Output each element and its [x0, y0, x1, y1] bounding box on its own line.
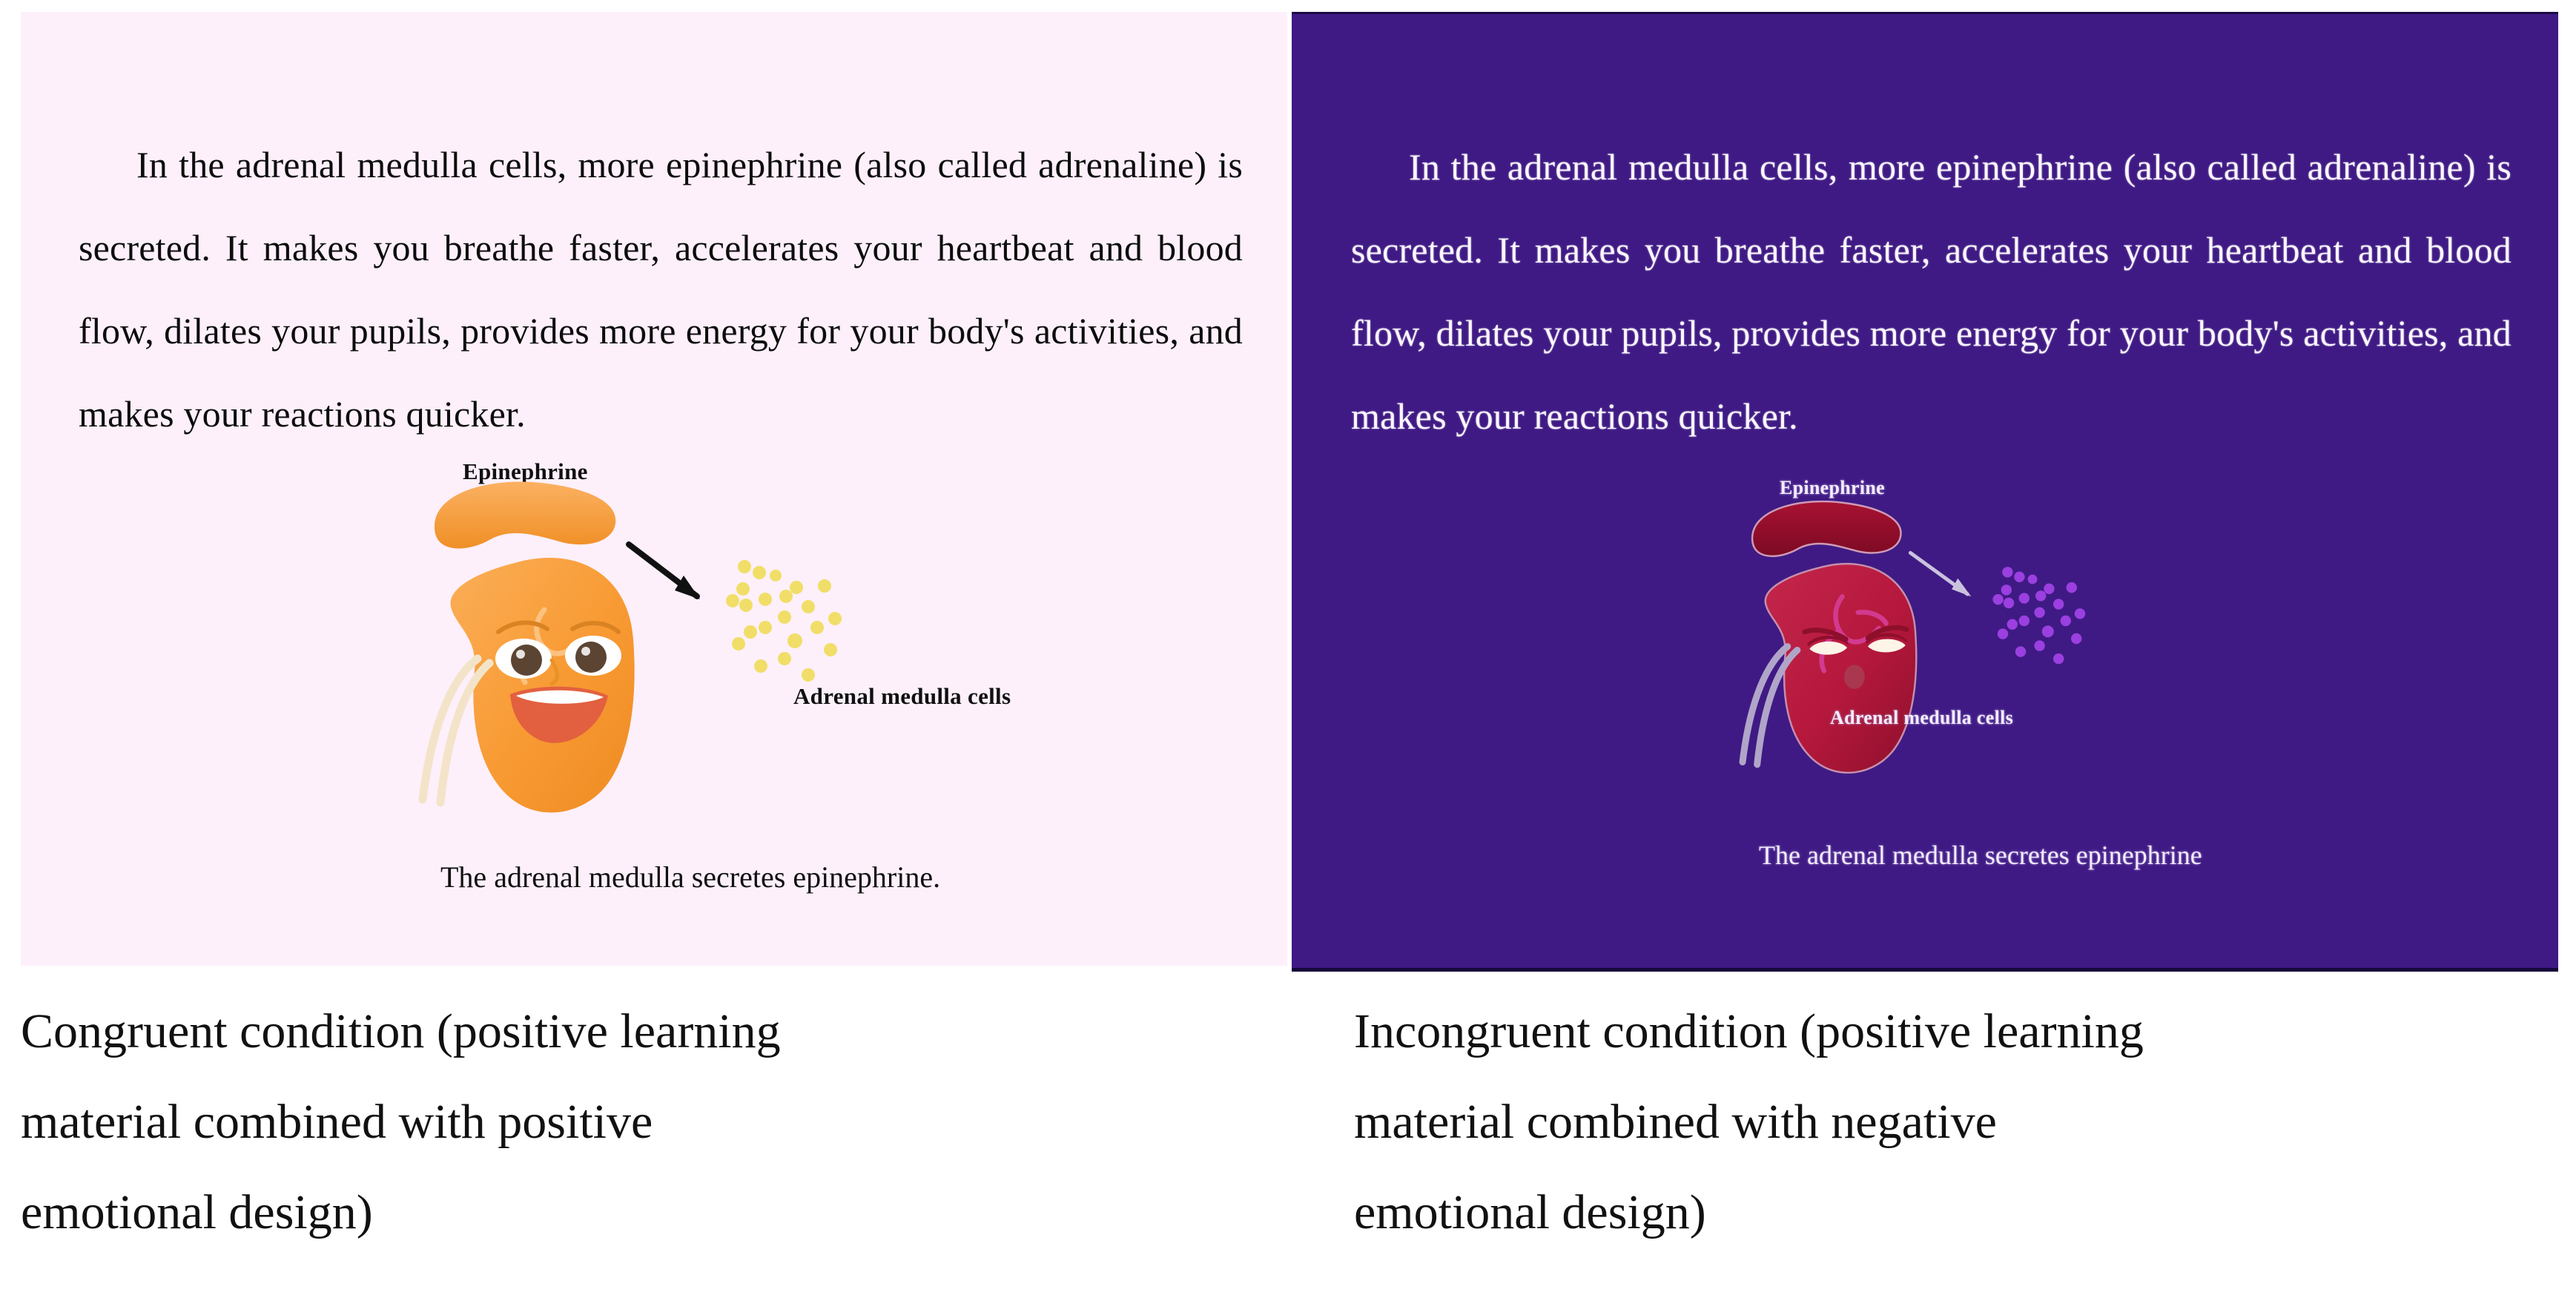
caption-line: emotional design) [1354, 1167, 2407, 1258]
slide-paragraph-congruent: In the adrenal medulla cells, more epine… [79, 123, 1243, 455]
illustration-caption: The adrenal medulla secretes epinephrine [1759, 840, 2202, 871]
adrenal-medulla-cells-label: Adrenal medulla cells [793, 683, 1011, 710]
caption-line: Incongruent condition (positive learning [1354, 986, 2407, 1077]
caption-line: material combined with negative [1354, 1077, 2407, 1167]
illustration-incongruent: Epinephrine [1292, 429, 2558, 963]
caption-line: emotional design) [21, 1167, 1074, 1258]
figure-two-conditions: In the adrenal medulla cells, more epine… [0, 0, 2576, 1295]
illustration-caption: The adrenal medulla secretes epinephrine… [440, 860, 940, 894]
caption-congruent-condition: Congruent condition (positive learning m… [21, 986, 1074, 1258]
kidney-shape [450, 558, 634, 812]
mouth-frown [1844, 665, 1865, 689]
secretion-arrow-head [1952, 579, 1971, 597]
adrenal-medulla-cell-dots [1985, 561, 2163, 698]
eye-left-pupil [511, 645, 542, 676]
panel-incongruent-condition: In the adrenal medulla cells, more epine… [1292, 12, 2558, 972]
adrenal-gland-shape [1752, 501, 1900, 556]
eye-left-highlight [516, 650, 525, 659]
caption-line: material combined with positive [21, 1077, 1074, 1167]
kidney-illustration-happy [406, 472, 718, 857]
kidney-illustration-sad [1729, 493, 1984, 809]
caption-incongruent-condition: Incongruent condition (positive learning… [1354, 986, 2407, 1258]
panel-congruent-condition: In the adrenal medulla cells, more epine… [21, 12, 1287, 966]
slide-paragraph-incongruent: In the adrenal medulla cells, more epine… [1351, 125, 2511, 458]
caption-line: Congruent condition (positive learning [21, 986, 1074, 1077]
adrenal-medulla-cells-label: Adrenal medulla cells [1830, 707, 2013, 729]
eye-right-pupil [575, 642, 607, 673]
eye-right-highlight [581, 647, 590, 656]
adrenal-gland-shape [435, 481, 615, 548]
illustration-congruent: Epinephrine [21, 427, 1287, 961]
